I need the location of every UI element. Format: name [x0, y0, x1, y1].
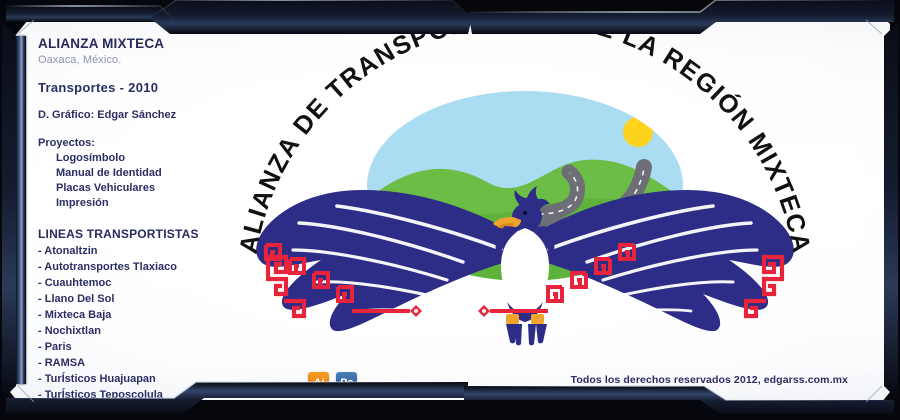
- projects-label: Proyectos:: [38, 137, 243, 149]
- project-category: Transportes - 2010: [38, 80, 243, 95]
- sidebar: ALIANZA MIXTECA Oaxaca, México. Transpor…: [38, 36, 243, 401]
- fret-diamond-left: [410, 305, 422, 317]
- poster-canvas: ALIANZA DE TRANSPORTISTAS DE LA REGIÓN M…: [0, 0, 900, 420]
- designer-credit: D. Gráfico: Edgar Sánchez: [38, 109, 243, 121]
- list-item: - Nochixtlan: [38, 325, 243, 337]
- list-item: - TurÍsticos Huajuapan: [38, 373, 243, 385]
- project-item: Placas Vehiculares: [38, 182, 243, 194]
- software-badges: Ai Ps: [308, 372, 357, 393]
- list-item: - Autotransportes Tlaxiaco: [38, 261, 243, 273]
- fret-diamond-right: [478, 305, 490, 317]
- list-item: - Atonaltzin: [38, 245, 243, 257]
- left-accent-rail: [14, 36, 26, 384]
- adobe-photoshop-icon: Ps: [336, 372, 357, 393]
- list-item: - Mixteca Baja: [38, 309, 243, 321]
- project-item: Manual de Identidad: [38, 167, 243, 179]
- copyright-notice: Todos los derechos reservados 2012, edga…: [571, 374, 848, 386]
- list-item: - TurÍsticos Teposcolula: [38, 389, 243, 401]
- project-item: Impresión: [38, 197, 243, 209]
- brand-location: Oaxaca, México.: [38, 54, 243, 66]
- list-item: - Cuauhtemoc: [38, 277, 243, 289]
- lines-heading: LINEAS TRANSPORTISTAS: [38, 227, 243, 241]
- brand-title: ALIANZA MIXTECA: [38, 36, 243, 51]
- project-item: Logosímbolo: [38, 152, 243, 164]
- list-item: - RAMSA: [38, 357, 243, 369]
- list-item: - Llano Del Sol: [38, 293, 243, 305]
- adobe-illustrator-icon: Ai: [308, 372, 329, 393]
- list-item: - Paris: [38, 341, 243, 353]
